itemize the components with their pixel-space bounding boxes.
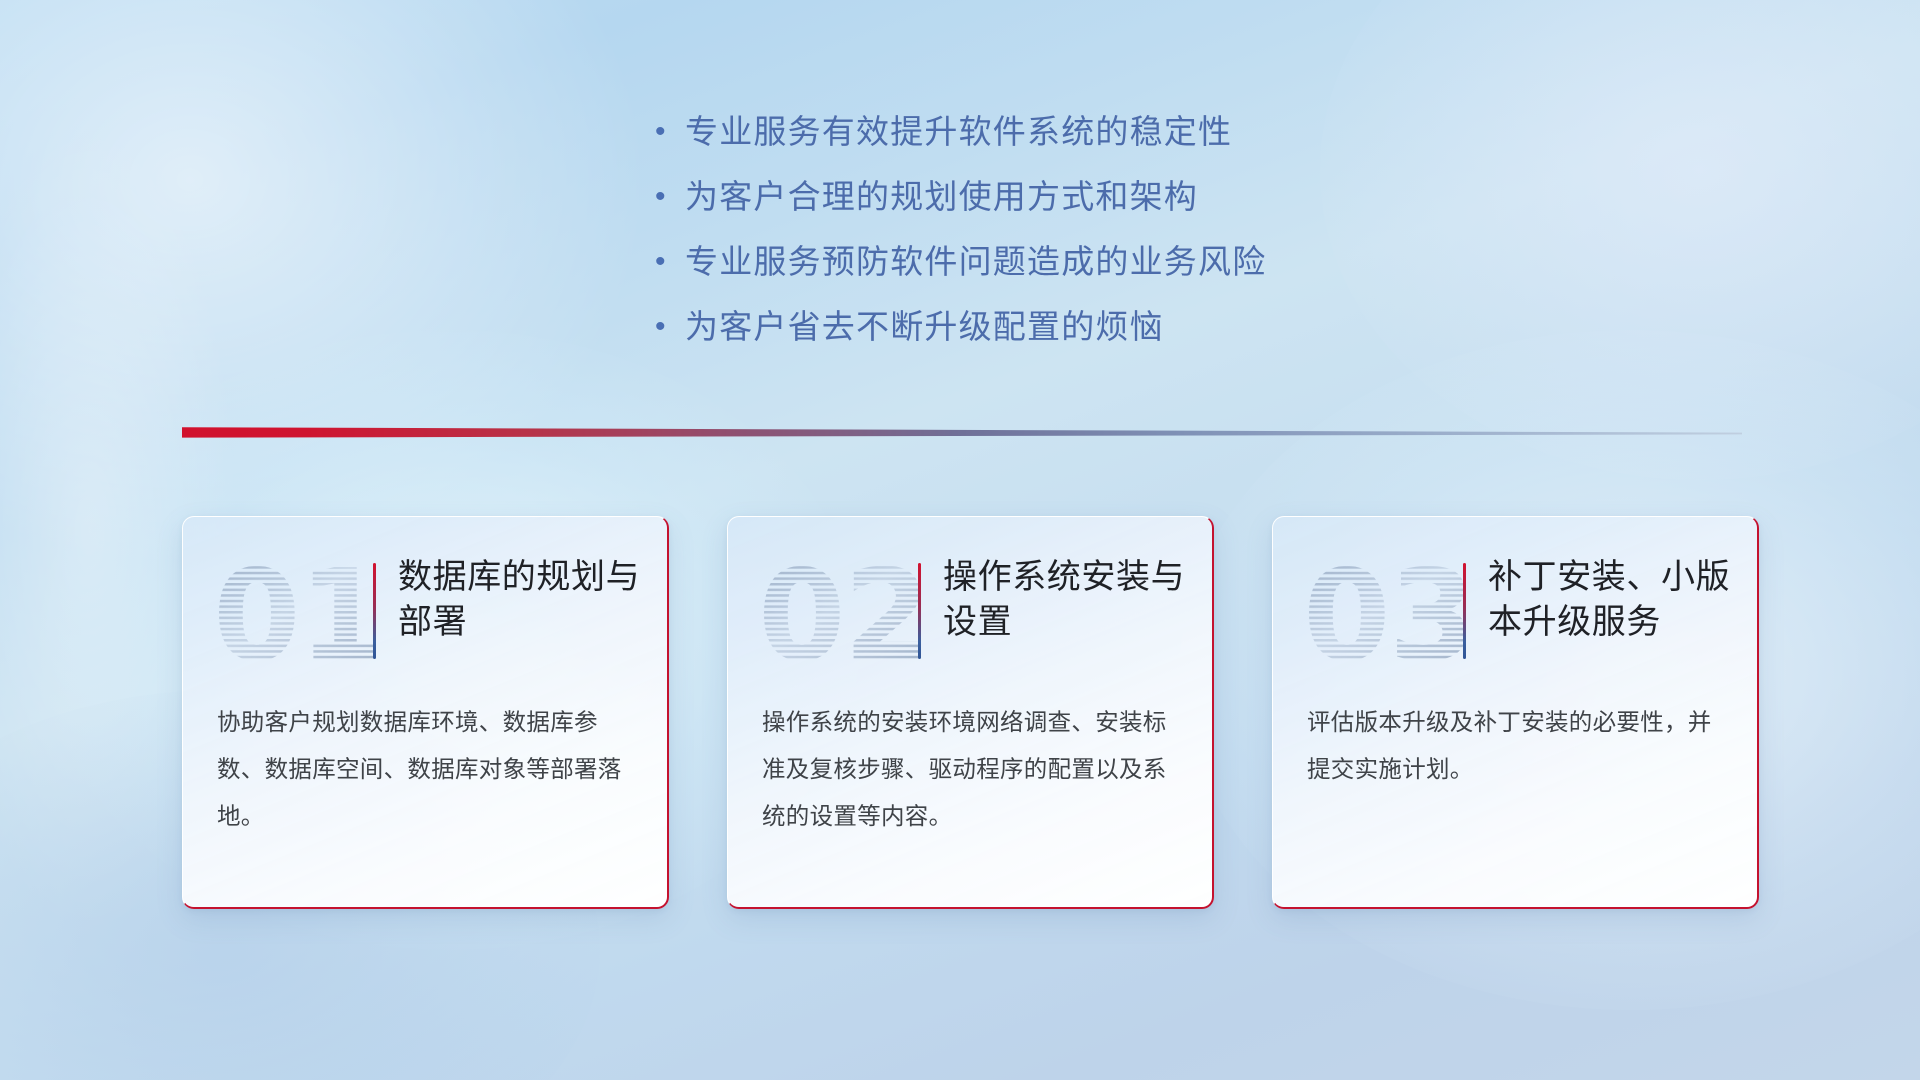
bullet-dot-icon: • <box>655 182 685 212</box>
service-card-02[interactable]: 02 操作系统安装与设置 操作系统的安装环境网络调查、安装标准及复核步骤、驱动程… <box>727 516 1214 909</box>
service-card-03[interactable]: 03 补丁安装、小版本升级服务 评估版本升级及补丁安装的必要性，并提交实施计划。 <box>1272 516 1759 909</box>
bullet-text: 为客户合理的规划使用方式和架构 <box>685 170 1198 218</box>
card-accent-rule <box>1463 563 1466 659</box>
divider-shape-icon <box>182 424 1742 444</box>
list-item: • 专业服务有效提升软件系统的稳定性 <box>655 105 1555 170</box>
card-header: 01 数据库的规划与部署 <box>183 517 667 685</box>
striped-number-icon: 03 <box>1303 555 1463 673</box>
list-item: • 为客户合理的规划使用方式和架构 <box>655 170 1555 235</box>
card-index-numeral: 03 <box>1303 555 1463 673</box>
section-divider <box>182 424 1742 444</box>
bullet-dot-icon: • <box>655 312 685 342</box>
card-title: 数据库的规划与部署 <box>398 547 641 645</box>
slide-canvas: • 专业服务有效提升软件系统的稳定性 • 为客户合理的规划使用方式和架构 • 专… <box>0 0 1920 1080</box>
card-header: 02 操作系统安装与设置 <box>728 517 1212 685</box>
card-index-numeral: 01 <box>213 555 373 673</box>
striped-number-icon: 01 <box>213 555 373 673</box>
bullet-text: 专业服务有效提升软件系统的稳定性 <box>685 105 1232 153</box>
bullet-text: 专业服务预防软件问题造成的业务风险 <box>685 235 1266 283</box>
list-item: • 为客户省去不断升级配置的烦恼 <box>655 300 1555 365</box>
svg-text:01: 01 <box>213 555 373 673</box>
bullet-dot-icon: • <box>655 117 685 147</box>
card-description: 操作系统的安装环境网络调查、安装标准及复核步骤、驱动程序的配置以及系统的设置等内… <box>728 685 1212 840</box>
list-item: • 专业服务预防软件问题造成的业务风险 <box>655 235 1555 300</box>
card-accent-rule <box>918 563 921 659</box>
card-index-numeral: 02 <box>758 555 918 673</box>
striped-number-icon: 02 <box>758 555 918 673</box>
card-title: 补丁安装、小版本升级服务 <box>1488 547 1731 645</box>
value-bullet-list: • 专业服务有效提升软件系统的稳定性 • 为客户合理的规划使用方式和架构 • 专… <box>655 105 1555 365</box>
card-accent-rule <box>373 563 376 659</box>
card-title: 操作系统安装与设置 <box>943 547 1186 645</box>
card-description: 评估版本升级及补丁安装的必要性，并提交实施计划。 <box>1273 685 1757 793</box>
card-header: 03 补丁安装、小版本升级服务 <box>1273 517 1757 685</box>
service-card-01[interactable]: 01 数据库的规划与部署 协助客户规划数据库环境、数据库参数、数据库空间、数据库… <box>182 516 669 909</box>
service-card-row: 01 数据库的规划与部署 协助客户规划数据库环境、数据库参数、数据库空间、数据库… <box>182 516 1760 916</box>
bullet-dot-icon: • <box>655 247 685 277</box>
svg-text:03: 03 <box>1303 555 1463 673</box>
bullet-text: 为客户省去不断升级配置的烦恼 <box>685 300 1164 348</box>
svg-text:02: 02 <box>758 555 918 673</box>
card-description: 协助客户规划数据库环境、数据库参数、数据库空间、数据库对象等部署落地。 <box>183 685 667 840</box>
background-glow-top-left <box>0 0 640 560</box>
